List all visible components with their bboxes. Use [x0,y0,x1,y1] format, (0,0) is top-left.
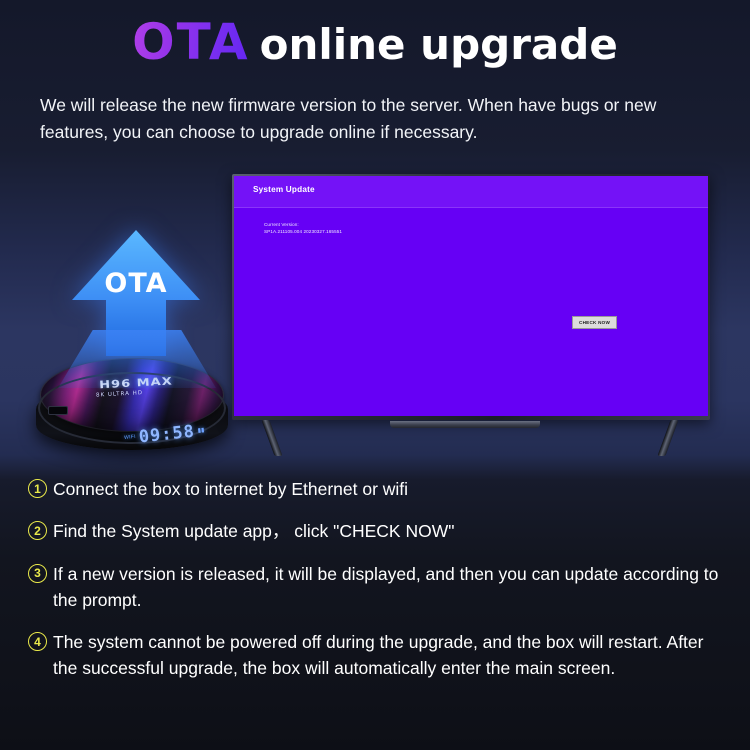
tv-screen: System Update Current Version: SP1A.2111… [234,176,708,416]
current-version-value: SP1A.211105.004 20230327.165551 [264,228,342,235]
tv-center-stand [390,421,540,428]
step-number: 3 [28,564,47,583]
step-text: The system cannot be powered off during … [53,629,728,682]
step-text: If a new version is released, it will be… [53,561,728,614]
list-item: 1 Connect the box to internet by Etherne… [28,476,728,502]
step-number: 4 [28,632,47,651]
page-title-rest: online upgrade [260,20,618,69]
step-text: Find the System update app， click "CHECK… [53,518,454,544]
tv-leg-left [261,420,282,456]
list-item: 2 Find the System update app， click "CHE… [28,518,728,544]
step-text: Connect the box to internet by Ethernet … [53,476,408,502]
list-item: 4 The system cannot be powered off durin… [28,629,728,682]
page-title-ota: OTA [132,13,249,71]
tv-illustration: System Update Current Version: SP1A.2111… [232,174,710,420]
tv-bezel: System Update Current Version: SP1A.2111… [232,174,710,420]
wifi-icon: WIFI [124,435,136,442]
step-number: 2 [28,521,47,540]
step-number: 1 [28,479,47,498]
led-clock: 09:58 [138,422,196,448]
led-bars-icon: ▮▮ [197,427,204,434]
check-now-button[interactable]: CHECK NOW [572,316,617,329]
ota-arrow-label: OTA [70,268,202,299]
list-item: 3 If a new version is released, it will … [28,561,728,614]
instruction-steps: 1 Connect the box to internet by Etherne… [28,476,728,698]
tv-box-port [48,406,68,415]
current-version-block: Current Version: SP1A.211105.004 2023032… [264,221,342,235]
intro-paragraph: We will release the new firmware version… [40,92,720,146]
page-title: OTAonline upgrade [0,13,750,71]
tv-leg-right [657,420,678,456]
system-update-title: System Update [253,185,315,194]
current-version-label: Current Version: [264,221,342,228]
